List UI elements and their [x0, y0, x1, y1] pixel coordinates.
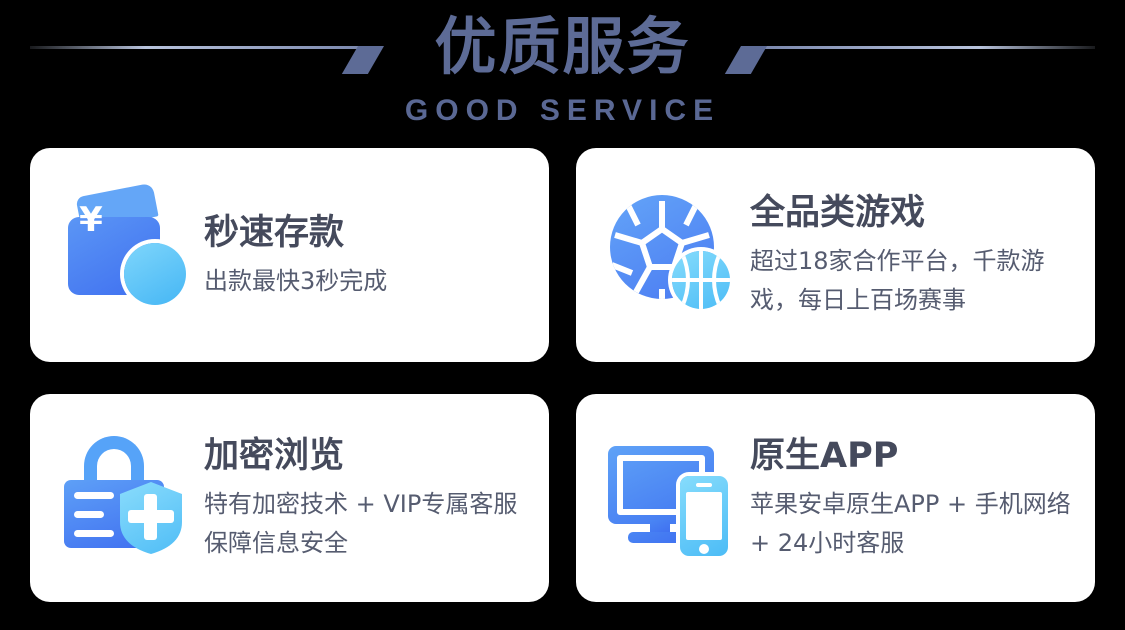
- card-description: 特有加密技术 + VIP专属客服保障信息安全: [204, 485, 531, 563]
- lock-slot-icon: [74, 492, 114, 499]
- smartphone-icon: [680, 476, 728, 556]
- service-card-text: 全品类游戏 超过18家合作平台，千款游戏，每日上百场赛事: [738, 190, 1077, 320]
- service-card-all-category-games[interactable]: 全品类游戏 超过18家合作平台，千款游戏，每日上百场赛事: [576, 148, 1095, 362]
- card-description: 苹果安卓原生APP + 手机网络 + 24小时客服: [750, 485, 1077, 563]
- plus-icon: [144, 494, 157, 540]
- phone-home-button-icon: [699, 544, 709, 554]
- card-title: 原生APP: [750, 433, 1077, 479]
- basketball-icon: [672, 251, 730, 309]
- card-title: 全品类游戏: [750, 190, 1077, 236]
- service-card-instant-deposit[interactable]: ¥ 秒速存款 出款最快3秒完成: [30, 148, 549, 362]
- service-card-text: 秒速存款 出款最快3秒完成: [192, 210, 531, 301]
- service-card-text: 原生APP 苹果安卓原生APP + 手机网络 + 24小时客服: [738, 433, 1077, 563]
- card-title: 加密浏览: [204, 433, 531, 479]
- phone-screen-icon: [686, 492, 722, 540]
- card-title: 秒速存款: [204, 210, 531, 256]
- yen-symbol: ¥: [60, 189, 122, 251]
- service-card-native-app[interactable]: 原生APP 苹果安卓原生APP + 手机网络 + 24小时客服: [576, 394, 1095, 602]
- wallet-coin-icon: ¥: [60, 189, 192, 321]
- lock-shield-icon: [60, 432, 192, 564]
- service-card-grid: ¥ 秒速存款 出款最快3秒完成: [30, 148, 1095, 602]
- page-title: 优质服务: [0, 8, 1125, 86]
- service-card-text: 加密浏览 特有加密技术 + VIP专属客服保障信息安全: [192, 433, 531, 563]
- card-description: 超过18家合作平台，千款游戏，每日上百场赛事: [750, 242, 1077, 320]
- card-description: 出款最快3秒完成: [204, 262, 531, 301]
- page-subtitle: GOOD SERVICE: [0, 94, 1125, 128]
- page-header: 优质服务 GOOD SERVICE: [0, 0, 1125, 140]
- monitor-phone-icon: [606, 432, 738, 564]
- service-card-encrypted-browsing[interactable]: 加密浏览 特有加密技术 + VIP专属客服保障信息安全: [30, 394, 549, 602]
- lock-slot-icon: [74, 511, 104, 518]
- lock-slot-icon: [74, 530, 114, 537]
- phone-speaker-icon: [696, 483, 712, 487]
- yen-coin-icon: [124, 243, 186, 305]
- soccer-basketball-icon: [606, 189, 738, 321]
